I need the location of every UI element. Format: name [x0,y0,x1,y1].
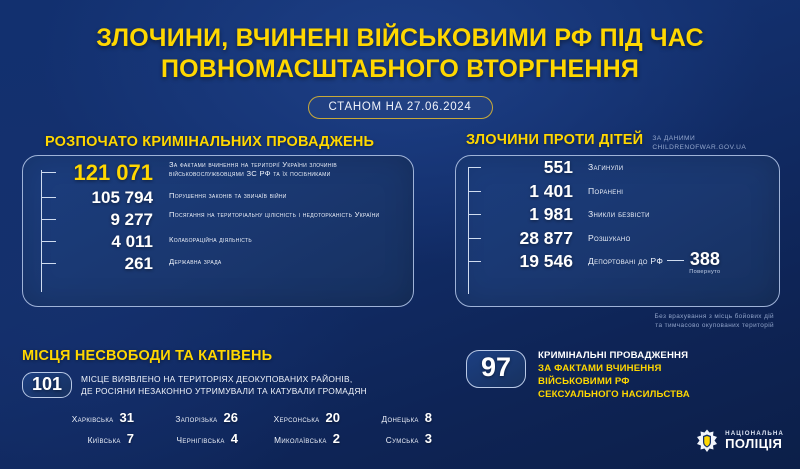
metric-value: 9 277 [56,211,160,228]
metric-value: 28 877 [481,230,579,248]
metric-label: Порушення законів та звичаїв війни [160,191,413,200]
title-line-2: ПОВНОМАСШТАБНОГО ВТОРГНЕННЯ [0,54,800,85]
sexual-violence-description: КРИМІНАЛЬНІ ПРОВАДЖЕННЯ ЗА ФАКТАМИ ВЧИНЕ… [538,350,690,402]
metric-value: 4 011 [56,233,160,250]
bracket-tick-icon [468,167,481,168]
metric-value: 105 794 [56,189,160,206]
returned-block: 388 Повернуто [689,250,720,275]
metric-row: 551 Загинули [456,156,779,177]
sexual-violence-section: 97 КРИМІНАЛЬНІ ПРОВАДЖЕННЯ ЗА ФАКТАМИ ВЧ… [466,350,690,402]
logo-text: НАЦІОНАЛЬНА ПОЛІЦІЯ [725,431,784,451]
criminal-proceedings-heading: РОЗПОЧАТО КРИМІНАЛЬНИХ ПРОВАДЖЕНЬ [45,134,374,150]
national-police-logo: НАЦІОНАЛЬНА ПОЛІЦІЯ [696,429,784,453]
region-item: Миколаївська 2 [238,431,340,446]
region-item: Харківська 31 [22,410,134,425]
returned-value: 388 [689,250,720,268]
region-name: Донецька [381,414,418,424]
region-value: 8 [425,410,432,425]
region-value: 2 [333,431,340,446]
bracket-tick-icon [41,172,56,173]
metric-value: 1 401 [481,183,579,201]
logo-bottom-text: ПОЛІЦІЯ [725,437,784,451]
region-name: Харківська [72,414,114,424]
region-item: Чернігівська 4 [134,431,238,446]
metric-row: 4 011 Колабораційна діяльність [23,229,413,250]
detention-line-1: МІСЦЕ ВИЯВЛЕНО НА ТЕРИТОРІЯХ ДЕОКУПОВАНИ… [81,374,352,384]
region-value: 20 [326,410,340,425]
metric-label: Розшукано [579,233,631,244]
metric-label: Державна зрада [160,257,413,266]
source-line-2: CHILDRENOFWAR.GOV.UA [652,144,746,151]
region-name: Сумська [386,435,419,445]
bracket-tick-icon [41,197,56,198]
violence-line-2: ЗА ФАКТАМИ ВЧИНЕННЯ [538,363,661,374]
metric-row: 1 981 Зникли безвісти [456,203,779,224]
bracket-tick-icon [468,238,481,239]
returned-caption: Повернуто [689,269,720,275]
connector-dash-icon [667,260,684,261]
date-badge: СТАНОМ НА 27.06.2024 [308,96,493,119]
region-item: Сумська 3 [340,431,432,446]
region-item: Запорізька 26 [134,410,238,425]
infographic-page: ЗЛОЧИНИ, ВЧИНЕНІ ВІЙСЬКОВИМИ РФ ПІД ЧАС … [0,0,800,469]
returned-group: 388 Повернуто [663,250,720,275]
date-badge-wrap: СТАНОМ НА 27.06.2024 [0,96,800,119]
detention-count-badge: 101 [22,372,72,398]
region-name: Чернігівська [177,435,225,445]
metric-row: 28 877 Розшукано [456,227,779,248]
children-source-note: ЗА ДАНИМИ CHILDRENOFWAR.GOV.UA [652,132,746,153]
violence-line-4: СЕКСУАЛЬНОГО НАСИЛЬСТВА [538,389,690,400]
children-panel: 551 Загинули 1 401 Поранені 1 981 Зникли… [455,155,780,307]
metric-value: 261 [56,255,160,272]
violence-line-1: КРИМІНАЛЬНІ ПРОВАДЖЕННЯ [538,350,688,361]
title-line-1: ЗЛОЧИНИ, ВЧИНЕНІ ВІЙСЬКОВИМИ РФ ПІД ЧАС [96,24,703,52]
region-name: Київська [88,435,121,445]
metric-row-deported: 19 546 Депортовані до РФ 388 Повернуто [456,250,779,275]
region-item: Херсонська 20 [238,410,340,425]
detention-line-2: ДЕ РОСІЯНИ НЕЗАКОННО УТРИМУВАЛИ ТА КАТУВ… [81,386,367,396]
bracket-tick-icon [41,241,56,242]
metric-label: За фактами вчинення на території України… [160,160,413,179]
regions-row: Харківська 31 Запорізька 26 Херсонська 2… [22,410,442,425]
metric-label: Загинули [579,162,623,173]
region-value: 4 [231,431,238,446]
metric-row: 1 401 Поранені [456,180,779,201]
metric-label: Посягання на територіальну цілісність і … [160,210,413,219]
footnote-line-2: та тимчасово окупованих територій [655,322,774,329]
regions-breakdown: Харківська 31 Запорізька 26 Херсонська 2… [22,410,442,446]
bracket-tick-icon [41,219,56,220]
detention-section: МІСЦЯ НЕСВОБОДИ ТА КАТІВЕНЬ 101 МІСЦЕ ВИ… [22,348,442,446]
region-value: 3 [425,431,432,446]
detention-summary-row: 101 МІСЦЕ ВИЯВЛЕНО НА ТЕРИТОРІЯХ ДЕОКУПО… [22,372,442,398]
footnote-line-1: Без врахування з місць бойових дій [655,313,774,320]
metric-row: 105 794 Порушення законів та звичаїв вій… [23,185,413,206]
page-title: ЗЛОЧИНИ, ВЧИНЕНІ ВІЙСЬКОВИМИ РФ ПІД ЧАС … [0,0,800,84]
regions-row: Київська 7 Чернігівська 4 Миколаївська 2… [22,431,442,446]
region-name: Миколаївська [274,435,327,445]
metric-value: 19 546 [481,253,579,271]
source-line-1: ЗА ДАНИМИ [652,135,695,142]
region-name: Запорізька [175,414,217,424]
region-name: Херсонська [274,414,320,424]
bracket-tick-icon [41,263,56,264]
bracket-tick-icon [468,214,481,215]
region-item: Київська 7 [22,431,134,446]
children-footnote: Без врахування з місць бойових дій та ти… [455,312,780,331]
detention-heading: МІСЦЯ НЕСВОБОДИ ТА КАТІВЕНЬ [22,348,442,364]
metric-label: Колабораційна діяльність [160,235,413,244]
bracket-tick-icon [468,261,481,262]
metric-row: 121 071 За фактами вчинення на території… [23,156,413,184]
metric-value: 121 071 [56,162,160,184]
region-value: 31 [120,410,134,425]
children-heading-row: ЗЛОЧИНИ ПРОТИ ДІТЕЙ ЗА ДАНИМИ CHILDRENOF… [466,132,746,153]
metric-label: Зникли безвісти [579,209,650,220]
bracket-tick-icon [468,191,481,192]
metric-label: Поранені [579,186,623,197]
region-value: 26 [224,410,238,425]
metric-row: 9 277 Посягання на територіальну цілісні… [23,207,413,228]
metric-label: Депортовані до РФ [579,256,663,267]
children-heading: ЗЛОЧИНИ ПРОТИ ДІТЕЙ [466,132,643,148]
police-emblem-icon [696,429,718,453]
region-value: 7 [127,431,134,446]
criminal-proceedings-panel: 121 071 За фактами вчинення на території… [22,155,414,307]
metric-row: 261 Державна зрада [23,251,413,272]
detention-description: МІСЦЕ ВИЯВЛЕНО НА ТЕРИТОРІЯХ ДЕОКУПОВАНИ… [81,372,367,397]
violence-line-3: ВІЙСЬКОВИМИ РФ [538,376,630,387]
region-item: Донецька 8 [340,410,432,425]
metric-value: 1 981 [481,206,579,224]
metric-value: 551 [481,159,579,177]
sexual-violence-count-badge: 97 [466,350,526,388]
